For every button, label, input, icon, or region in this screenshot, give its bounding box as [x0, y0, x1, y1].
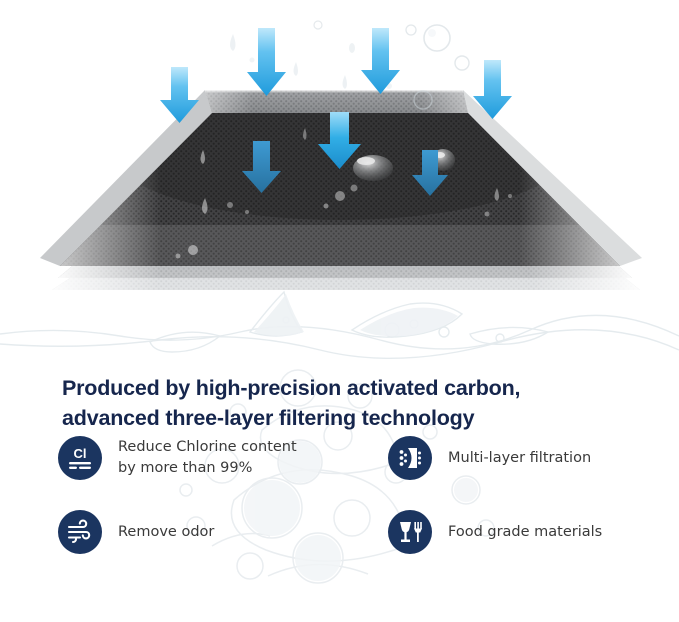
- feature-label: Food grade materials: [448, 522, 602, 543]
- feature-multi-layer-filtration: Multi-layer filtration: [388, 436, 648, 480]
- wind-odor-icon: [58, 510, 102, 554]
- svg-text:Cl: Cl: [74, 446, 87, 461]
- feature-label-line-1: Food grade materials: [448, 524, 602, 540]
- glass-fork-food-grade-icon-svg: [395, 517, 425, 547]
- product-feature-graphic: Produced by high-precision activated car…: [0, 0, 679, 622]
- feature-label-line-1: Multi-layer filtration: [448, 450, 591, 466]
- feature-remove-odor: Remove odor: [58, 510, 388, 554]
- feature-reduce-chlorine: Cl Reduce Chlorine content by more than …: [58, 436, 388, 480]
- feature-content: Produced by high-precision activated car…: [0, 340, 679, 622]
- feature-food-grade-materials: Food grade materials: [388, 510, 648, 554]
- glass-fork-food-grade-icon: [388, 510, 432, 554]
- chlorine-icon: Cl: [58, 436, 102, 480]
- wind-odor-icon-svg: [65, 517, 95, 547]
- feature-row: Remove odor Food grade m: [58, 510, 658, 554]
- headline-line-1: Produced by high-precision activated car…: [62, 373, 642, 404]
- feature-row: Cl Reduce Chlorine content by more than …: [58, 436, 658, 480]
- filter-layers-svg: [0, 0, 679, 320]
- feature-label-line-1: Reduce Chlorine content: [118, 439, 297, 455]
- feature-label: Multi-layer filtration: [448, 448, 591, 469]
- feature-label: Reduce Chlorine content by more than 99%: [118, 437, 297, 478]
- multi-layer-filter-icon-svg: [395, 443, 425, 473]
- page-title: Produced by high-precision activated car…: [62, 373, 642, 434]
- chlorine-icon-svg: Cl: [65, 443, 95, 473]
- multi-layer-filter-icon: [388, 436, 432, 480]
- feature-list: Cl Reduce Chlorine content by more than …: [58, 436, 658, 554]
- feature-label-line-1: Remove odor: [118, 524, 214, 540]
- feature-label-line-2: by more than 99%: [118, 458, 297, 479]
- headline-line-2: advanced three-layer filtering technolog…: [62, 403, 642, 434]
- filter-illustration: [0, 0, 679, 320]
- feature-label: Remove odor: [118, 522, 214, 543]
